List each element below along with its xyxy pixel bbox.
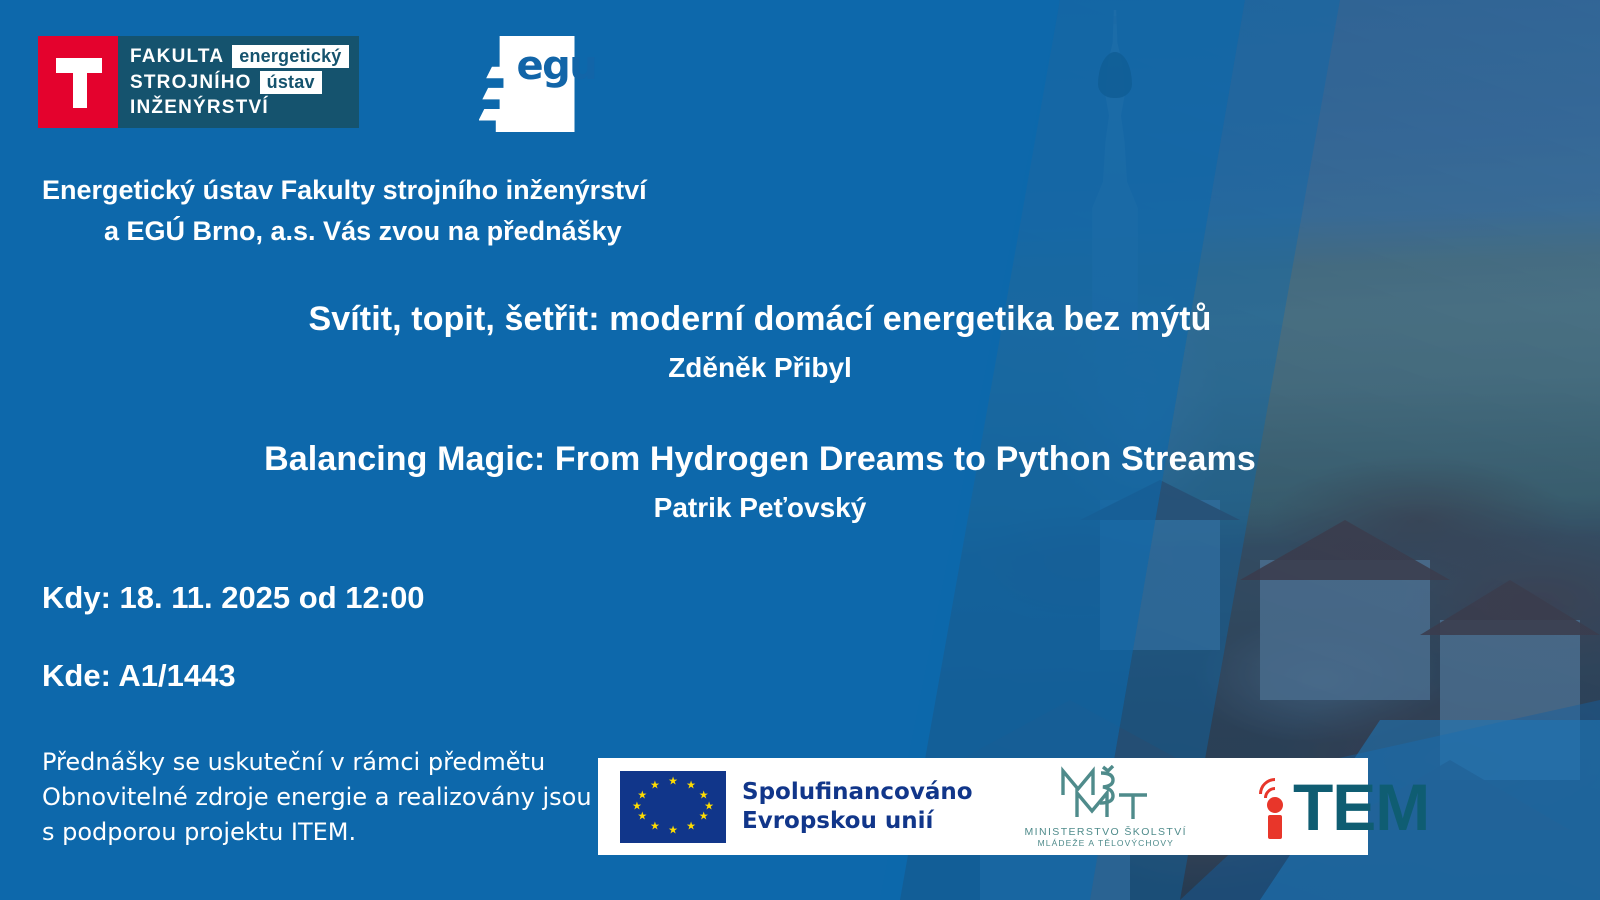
- invitation-line-2: a EGÚ Brno, a.s. Vás zvou na přednášky: [42, 211, 862, 252]
- fsi-line-2: STROJNÍHO ústav: [130, 71, 349, 94]
- fsi-line-3: INŽENÝRSTVÍ: [130, 97, 349, 119]
- item-i-signal-icon: [1257, 775, 1293, 839]
- msmt-logo: MINISTERSTVO ŠKOLSTVÍ MLÁDEŽE A TĚLOVÝCH…: [1025, 765, 1187, 848]
- invitation-line-1: Energetický ústav Fakulty strojního inže…: [42, 175, 647, 205]
- eu-funding-logo: ★ ★ ★ ★ ★ ★ ★ ★ ★ ★ ★ ★ Spolufinancováno…: [620, 771, 973, 843]
- fsi-word-strojniho: STROJNÍHO: [130, 72, 252, 94]
- talk-1-speaker: Zděněk Přibyl: [0, 352, 1520, 384]
- item-i-dot: [1267, 797, 1283, 813]
- fsi-logo: FAKULTA energetický STROJNÍHO ústav INŽE…: [38, 36, 359, 128]
- eu-funding-line-1: Spolufinancováno: [742, 778, 973, 807]
- eu-flag-icon: ★ ★ ★ ★ ★ ★ ★ ★ ★ ★ ★ ★: [620, 771, 726, 843]
- poster-content: FAKULTA energetický STROJNÍHO ústav INŽE…: [0, 0, 1600, 900]
- fsi-wordmark: FAKULTA energetický STROJNÍHO ústav INŽE…: [118, 36, 359, 128]
- item-project-logo: TEM: [1257, 774, 1429, 840]
- msmt-line-1: MINISTERSTVO ŠKOLSTVÍ: [1025, 826, 1187, 838]
- eu-funding-text: Spolufinancováno Evropskou unií: [742, 778, 973, 836]
- eu-funding-line-2: Evropskou unií: [742, 807, 973, 836]
- fsi-word-inzenyrstvi: INŽENÝRSTVÍ: [130, 97, 269, 119]
- talk-2: Balancing Magic: From Hydrogen Dreams to…: [0, 438, 1520, 524]
- invitation-text: Energetický ústav Fakulty strojního inže…: [42, 170, 862, 251]
- funding-logo-bar: ★ ★ ★ ★ ★ ★ ★ ★ ★ ★ ★ ★ Spolufinancováno…: [598, 758, 1368, 855]
- item-wordmark-tem: TEM: [1293, 774, 1429, 840]
- fsi-line-1: FAKULTA energetický: [130, 45, 349, 68]
- fsi-mark-icon: [38, 36, 118, 128]
- poster-canvas: FAKULTA energetický STROJNÍHO ústav INŽE…: [0, 0, 1600, 900]
- talk-2-title: Balancing Magic: From Hydrogen Dreams to…: [0, 438, 1520, 481]
- msmt-mark-icon: [1051, 765, 1161, 823]
- egu-wordmark: egu: [517, 46, 597, 86]
- event-when: Kdy: 18. 11. 2025 od 12:00: [42, 580, 425, 616]
- fsi-word-fakulta: FAKULTA: [130, 46, 224, 68]
- logo-row: FAKULTA energetický STROJNÍHO ústav INŽE…: [38, 36, 575, 132]
- fsi-chip-ustav: ústav: [260, 71, 322, 94]
- fsi-chip-energeticky: energetický: [232, 45, 348, 68]
- egu-logo: egu: [479, 36, 575, 132]
- course-note: Přednášky se uskuteční v rámci předmětu …: [42, 745, 602, 849]
- item-i-stem: [1268, 815, 1282, 839]
- msmt-line-2: MLÁDEŽE A TĚLOVÝCHOVY: [1038, 838, 1174, 848]
- talk-2-speaker: Patrik Peťovský: [0, 492, 1520, 524]
- talk-1: Svítit, topit, šetřit: moderní domácí en…: [0, 298, 1520, 384]
- event-where: Kde: A1/1443: [42, 658, 236, 694]
- talk-1-title: Svítit, topit, šetřit: moderní domácí en…: [0, 298, 1520, 341]
